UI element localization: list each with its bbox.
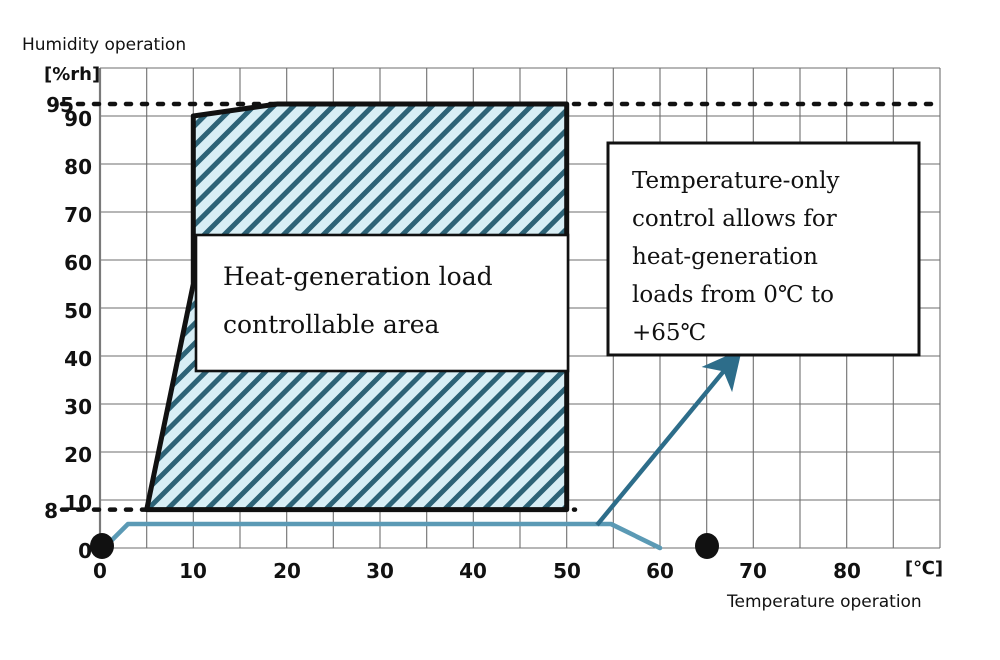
y-tick-95: 95 [46, 93, 74, 117]
y-axis-unit: [%rh] [44, 64, 100, 85]
callout-line-5: +65℃ [632, 320, 706, 346]
x-tick-60: 60 [646, 559, 674, 583]
y-tick-8: 8 [44, 499, 58, 523]
chart-canvas: Heat-generation load controllable area T… [0, 0, 1000, 660]
y-tick-70: 70 [64, 203, 92, 227]
x-tick-40: 40 [459, 559, 487, 583]
x-tick-50: 50 [553, 559, 581, 583]
callout-line-4: loads from 0℃ to [632, 282, 834, 308]
y-tick-60: 60 [64, 251, 92, 275]
callout-line-2: control allows for [632, 206, 837, 232]
area-label-box: Heat-generation load controllable area [196, 235, 568, 371]
x-axis-title: Temperature operation [726, 592, 922, 612]
y-tick-10: 10 [64, 491, 92, 515]
x-tick-0: 0 [93, 559, 107, 583]
x-tick-10: 10 [179, 559, 207, 583]
x-tick-70: 70 [739, 559, 767, 583]
x-axis-unit: [℃] [905, 558, 943, 579]
x-tick-80: 80 [833, 559, 861, 583]
callout-line-3: heat-generation [632, 244, 818, 270]
x-tick-20: 20 [273, 559, 301, 583]
y-tick-0: 0 [78, 539, 92, 563]
max-temp-marker [695, 533, 719, 559]
y-tick-20: 20 [64, 443, 92, 467]
y-tick-50: 50 [64, 299, 92, 323]
y-tick-80: 80 [64, 155, 92, 179]
y-axis-title: Humidity operation [22, 35, 186, 55]
y-tick-30: 30 [64, 395, 92, 419]
x-tick-30: 30 [366, 559, 394, 583]
callout-box: Temperature-only control allows for heat… [608, 143, 919, 355]
callout-line-1: Temperature-only [632, 168, 839, 194]
area-label-line-2: controllable area [223, 310, 439, 339]
origin-marker [90, 533, 114, 559]
humidity-temperature-operating-range-chart: Heat-generation load controllable area T… [0, 0, 1000, 660]
area-label-line-1: Heat-generation load [223, 262, 493, 291]
y-tick-40: 40 [64, 347, 92, 371]
